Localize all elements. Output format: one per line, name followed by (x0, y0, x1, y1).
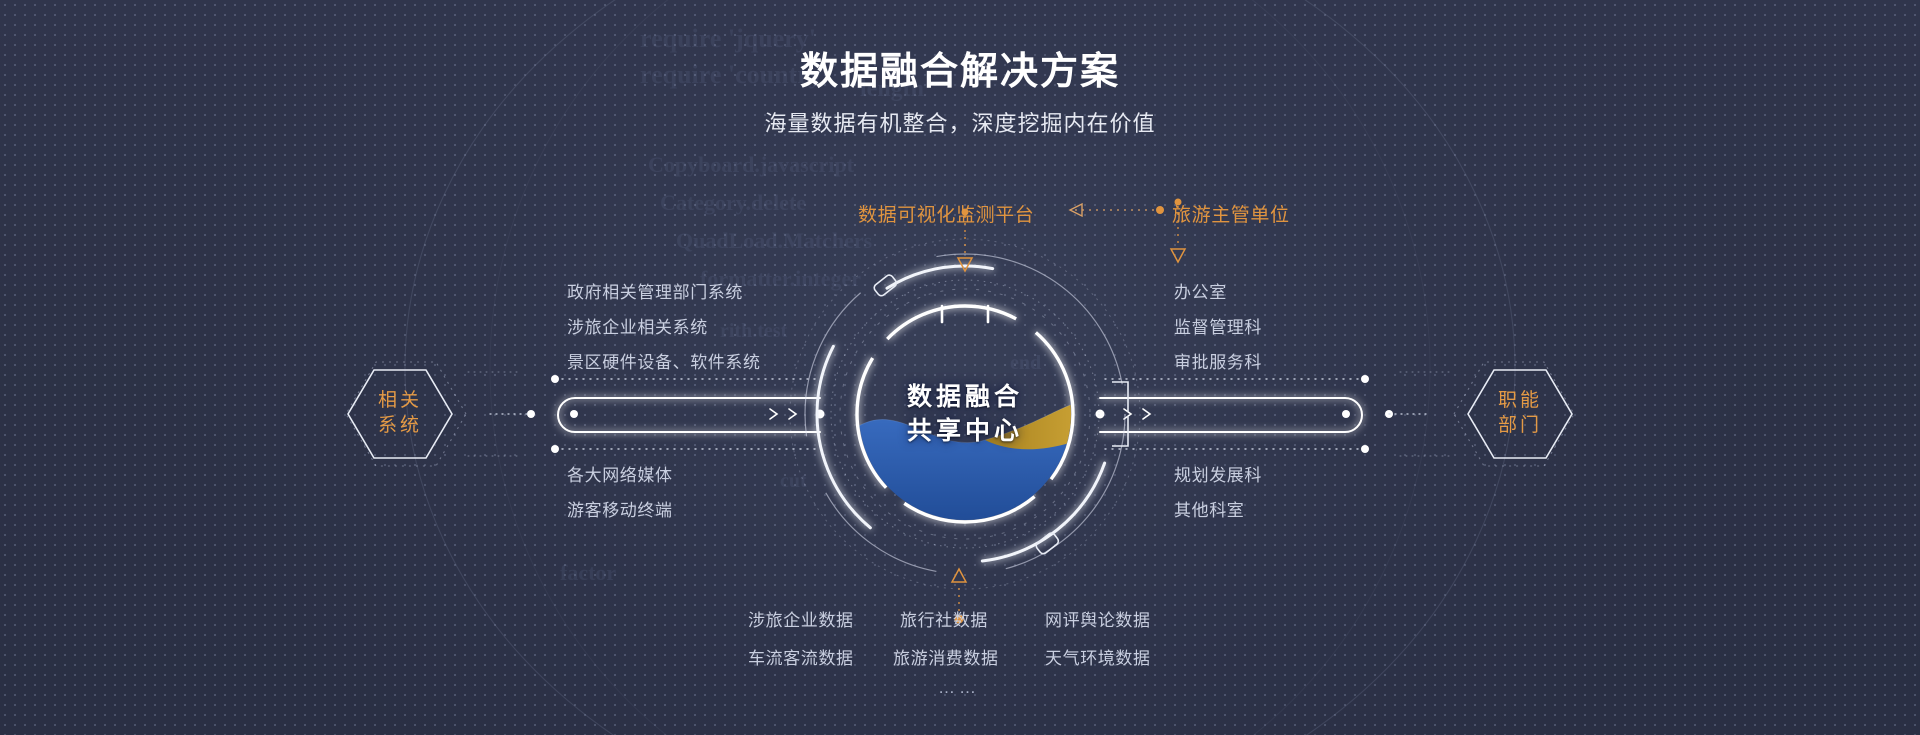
core-label-line1: 数据融合 (865, 380, 1065, 414)
left-top-item-2[interactable]: 景区硬件设备、软件系统 (567, 348, 761, 373)
infographic-canvas: require 'jquery' require 'country' Copyb… (0, 0, 1920, 735)
right-bottom-item-0[interactable]: 规划发展科 (1174, 461, 1262, 486)
page-subtitle: 海量数据有机整合，深度挖掘内在价值 (0, 106, 1920, 138)
top-horizontal-arrow (1070, 204, 1164, 216)
left-top-item-1[interactable]: 涉旅企业相关系统 (567, 313, 708, 338)
bg-code-2: Copyboard.javascript (648, 152, 854, 178)
bottom-item-r2-c0[interactable]: 车流客流数据 (748, 644, 854, 669)
bottom-ellipsis: …… (938, 678, 980, 698)
left-top-item-0[interactable]: 政府相关管理部门系统 (567, 278, 743, 303)
bottom-item-r1-c0[interactable]: 涉旅企业数据 (748, 606, 854, 631)
right-bottom-item-1[interactable]: 其他科室 (1174, 496, 1244, 521)
right-badge-line1: 职能 (1475, 388, 1565, 413)
top-label-platform[interactable]: 数据可视化监测平台 (858, 200, 1034, 227)
bottom-item-r1-c2[interactable]: 网评舆论数据 (1045, 606, 1151, 631)
bg-code-9: cut (780, 470, 807, 493)
page-title: 数据融合解决方案 (0, 40, 1920, 95)
bg-code-8: end (1010, 352, 1041, 375)
bg-code-6: rith.test (720, 320, 787, 343)
right-badge-label[interactable]: 职能 部门 (1475, 388, 1565, 438)
top-label-authority[interactable]: 旅游主管单位 (1172, 200, 1290, 227)
left-badge-line2: 系统 (355, 413, 445, 438)
right-top-item-1[interactable]: 监督管理科 (1174, 313, 1262, 338)
bg-code-4: QuadLoad.Matchers (676, 228, 872, 254)
right-top-item-2[interactable]: 审批服务科 (1174, 348, 1262, 373)
right-badge-line2: 部门 (1475, 413, 1565, 438)
core-label-line2: 共享中心 (865, 414, 1065, 448)
left-bottom-item-1[interactable]: 游客移动终端 (567, 496, 673, 521)
bottom-item-r2-c1[interactable]: 旅游消费数据 (893, 644, 999, 669)
left-badge-line1: 相关 (355, 388, 445, 413)
left-connector-bus (468, 372, 825, 456)
bottom-item-r2-c2[interactable]: 天气环境数据 (1045, 644, 1151, 669)
bg-code-3: Category.delete (660, 190, 806, 216)
right-connector-bus (1096, 372, 1453, 456)
right-top-item-0[interactable]: 办公室 (1174, 278, 1227, 303)
bg-code-10: factor (560, 560, 616, 586)
bottom-item-r1-c1[interactable]: 旅行社数据 (900, 606, 988, 631)
core-label: 数据融合 共享中心 (865, 380, 1065, 448)
left-bottom-item-0[interactable]: 各大网络媒体 (567, 461, 673, 486)
left-badge-label[interactable]: 相关 系统 (355, 388, 445, 438)
